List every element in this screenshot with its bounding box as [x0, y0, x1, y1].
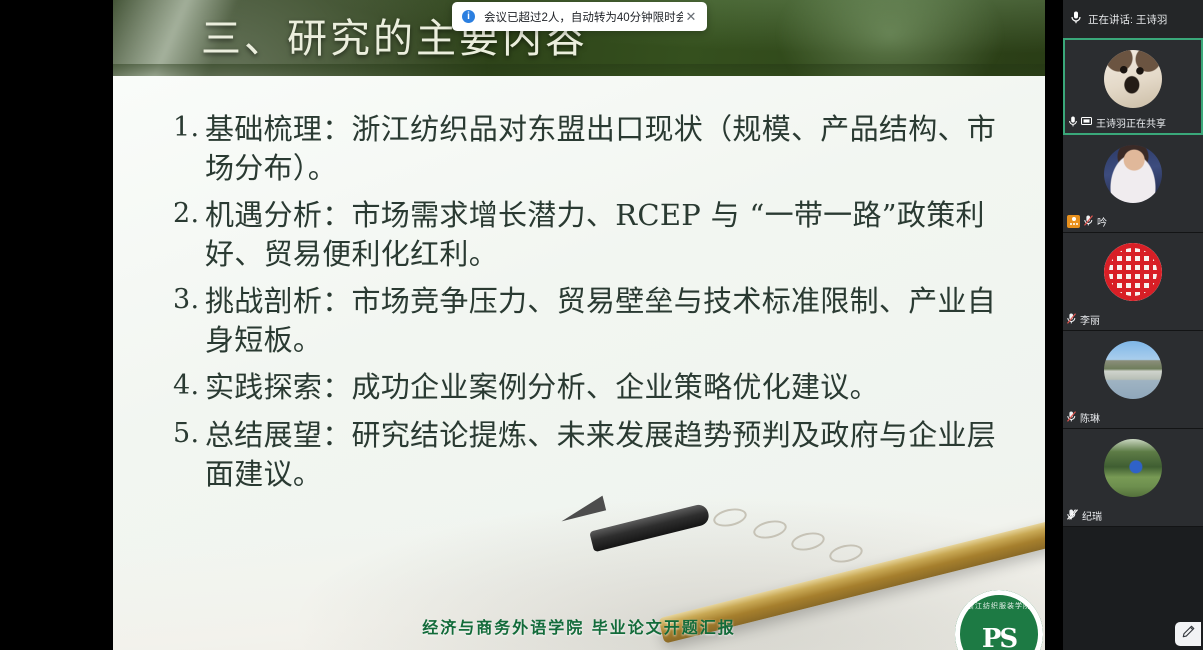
slide-bullet-item: 1. 基础梳理：浙江纺织品对东盟出口现状（规模、产品结构、市场分布）。: [173, 110, 1019, 187]
participant-name: 王诗羽正在共享: [1096, 115, 1166, 130]
avatar: [1104, 243, 1162, 301]
meeting-limit-notification[interactable]: i 会议已超过2人，自动转为40分钟限时会议。 ✕: [452, 2, 707, 31]
bullet-text: 挑战剖析：市场竞争压力、贸易壁垒与技术标准限制、产业自身短板。: [205, 284, 996, 357]
notebook-ring-decor: [752, 518, 789, 542]
mic-muted-icon: [1067, 411, 1076, 425]
mic-muted-icon: [1067, 509, 1078, 523]
active-speaker-bar: 正在讲话: 王诗羽: [1063, 0, 1203, 38]
bullet-number: 3.: [173, 282, 199, 318]
university-seal-logo: 浙江纺织服装学院 PS: [949, 588, 1045, 650]
notebook-ring-decor: [712, 506, 749, 530]
participant-name: 吟: [1097, 214, 1107, 229]
participant-label: 吟: [1067, 214, 1107, 229]
slide-bullet-list: 1. 基础梳理：浙江纺织品对东盟出口现状（规模、产品结构、市场分布）。 2. 机…: [113, 110, 1045, 493]
participant-tile-yin[interactable]: 吟: [1063, 135, 1203, 233]
avatar: [1104, 341, 1162, 399]
slide-bullet-item: 5. 总结展望：研究结论提炼、未来发展趋势预判及政府与企业层面建议。: [173, 416, 1019, 493]
annotate-button[interactable]: [1175, 622, 1201, 646]
bullet-text: 基础梳理：浙江纺织品对东盟出口现状（规模、产品结构、市场分布）。: [205, 112, 996, 185]
slide-bullet-item: 4. 实践探索：成功企业案例分析、企业策略优化建议。: [173, 368, 1019, 407]
participant-tile-jirui[interactable]: 纪瑞: [1063, 429, 1203, 527]
participant-label: 陈琳: [1067, 410, 1100, 425]
seal-circle-decor: 浙江纺织服装学院 PS: [955, 590, 1043, 650]
bullet-text: 总结展望：研究结论提炼、未来发展趋势预判及政府与企业层面建议。: [205, 418, 996, 491]
mic-muted-icon: [1084, 215, 1093, 229]
presentation-slide[interactable]: 三、研究的主要内容 1. 基础梳理：浙江纺织: [113, 0, 1045, 650]
participant-name: 李丽: [1080, 312, 1100, 327]
notebook-ring-decor: [828, 542, 865, 566]
notification-text: 会议已超过2人，自动转为40分钟限时会议。: [484, 9, 683, 25]
shared-screen-stage: 三、研究的主要内容 1. 基础梳理：浙江纺织: [0, 0, 1057, 650]
meeting-window: 三、研究的主要内容 1. 基础梳理：浙江纺织: [0, 0, 1203, 664]
host-badge-icon: [1067, 215, 1080, 228]
microphone-icon: [1071, 11, 1081, 27]
bullet-text: 机遇分析：市场需求增长潜力、RCEP 与 “一带一路”政策利好、贸易便利化红利。: [205, 198, 985, 271]
bullet-number: 4.: [173, 368, 199, 404]
slide-footer-text: 经济与商务外语学院 毕业论文开题汇报: [113, 614, 1045, 638]
sidebar-empty-space: [1063, 527, 1203, 627]
avatar: [1104, 145, 1162, 203]
info-icon: i: [462, 10, 475, 23]
participant-tile-lili[interactable]: 李丽: [1063, 233, 1203, 331]
participant-label: 王诗羽正在共享: [1069, 115, 1166, 130]
seal-arc-text: 浙江纺织服装学院: [967, 601, 1031, 611]
screen-share-icon: [1081, 117, 1092, 129]
bullet-number: 2.: [173, 196, 199, 232]
slide-bullet-item: 3. 挑战剖析：市场竞争压力、贸易壁垒与技术标准限制、产业自身短板。: [173, 282, 1019, 359]
mic-muted-icon: [1069, 116, 1077, 130]
participant-label: 纪瑞: [1067, 508, 1102, 523]
mic-muted-icon: [1067, 313, 1076, 327]
bullet-number: 5.: [173, 416, 199, 452]
close-icon[interactable]: ✕: [683, 9, 699, 25]
slide-body: 1. 基础梳理：浙江纺织品对东盟出口现状（规模、产品结构、市场分布）。 2. 机…: [113, 110, 1045, 502]
bottom-bar: [0, 650, 1203, 664]
active-speaker-text: 正在讲话: 王诗羽: [1088, 12, 1167, 27]
bullet-text: 实践探索：成功企业案例分析、企业策略优化建议。: [205, 370, 879, 404]
participant-name: 纪瑞: [1082, 508, 1102, 523]
participants-sidebar[interactable]: 正在讲话: 王诗羽 王诗羽正在共享: [1063, 0, 1203, 650]
participant-tile-wangshiyu[interactable]: 王诗羽正在共享: [1063, 38, 1203, 135]
participant-name: 陈琳: [1080, 410, 1100, 425]
pencil-icon: [1182, 625, 1195, 643]
avatar: [1104, 50, 1162, 108]
bullet-number: 1.: [173, 110, 199, 146]
notebook-ring-decor: [790, 530, 827, 554]
avatar: [1104, 439, 1162, 497]
header-fade-decor: [113, 64, 1045, 76]
participant-tile-chenlin[interactable]: 陈琳: [1063, 331, 1203, 429]
seal-monogram: PS: [982, 624, 1016, 650]
pen-grip-decor: [589, 503, 711, 552]
participant-label: 李丽: [1067, 312, 1100, 327]
slide-bullet-item: 2. 机遇分析：市场需求增长潜力、RCEP 与 “一带一路”政策利好、贸易便利化…: [173, 196, 1019, 273]
